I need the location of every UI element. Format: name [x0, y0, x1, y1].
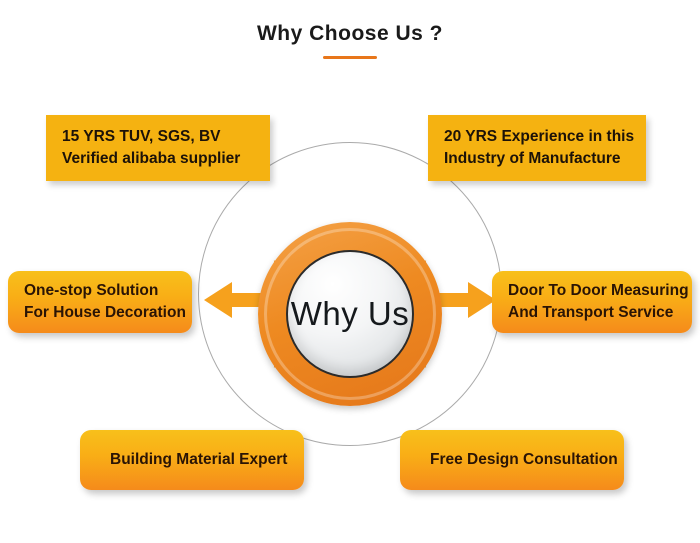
center-hub: Why Us — [258, 222, 442, 406]
benefit-line: Verified alibaba supplier — [62, 148, 254, 170]
title-underline — [323, 56, 377, 59]
benefit-box-top-left[interactable]: 15 YRS TUV, SGS, BV Verified alibaba sup… — [46, 115, 270, 181]
page-title: Why Choose Us ? — [0, 22, 700, 46]
arrow-head — [204, 282, 232, 318]
benefit-line: Building Material Expert — [96, 449, 287, 471]
benefit-line: Industry of Manufacture — [444, 148, 630, 170]
benefit-box-left[interactable]: One-stop Solution For House Decoration — [8, 271, 192, 333]
benefit-box-bottom-left[interactable]: Building Material Expert — [80, 430, 304, 490]
benefit-line: Door To Door Measuring — [508, 280, 676, 302]
center-hub-sphere: Why Us — [286, 250, 414, 378]
benefit-line: Free Design Consultation — [416, 449, 618, 471]
benefit-line: 20 YRS Experience in this — [444, 126, 630, 148]
benefit-line: And Transport Service — [508, 302, 676, 324]
infographic-canvas: Why Choose Us ? Why Us 15 YRS TUV, SGS, … — [0, 0, 700, 543]
center-hub-label: Why Us — [291, 295, 410, 333]
benefit-box-top-right[interactable]: 20 YRS Experience in this Industry of Ma… — [428, 115, 646, 181]
benefit-line: For House Decoration — [24, 302, 176, 324]
benefit-line: One-stop Solution — [24, 280, 176, 302]
benefit-box-right[interactable]: Door To Door Measuring And Transport Ser… — [492, 271, 692, 333]
benefit-box-bottom-right[interactable]: Free Design Consultation — [400, 430, 624, 490]
benefit-line: 15 YRS TUV, SGS, BV — [62, 126, 254, 148]
